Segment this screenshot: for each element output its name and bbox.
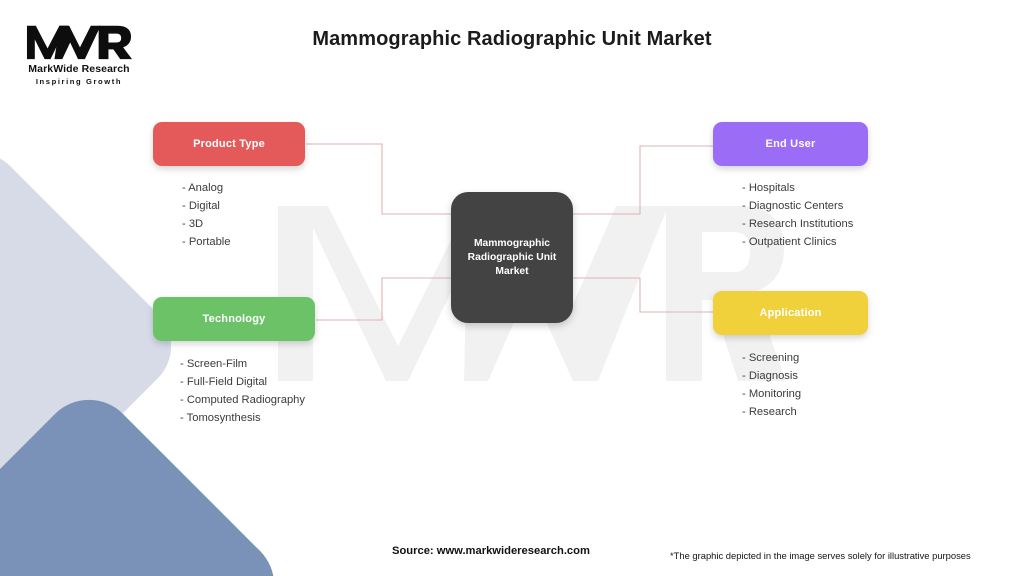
category-item-list-end-user: - Hospitals - Diagnostic Centers - Resea… <box>713 179 868 251</box>
list-item: - Outpatient Clinics <box>742 233 868 251</box>
list-item: - Hospitals <box>742 179 868 197</box>
category-application: Application - Screening - Diagnosis - Mo… <box>713 291 868 421</box>
list-item: - 3D <box>182 215 305 233</box>
list-item: - Diagnostic Centers <box>742 197 868 215</box>
center-node: Mammographic Radiographic Unit Market <box>451 192 573 323</box>
list-item: - Screening <box>742 349 868 367</box>
category-label: Product Type <box>193 138 265 150</box>
list-item: - Analog <box>182 179 305 197</box>
category-product-type: Product Type - Analog - Digital - 3D - P… <box>153 122 305 251</box>
category-label: Application <box>759 307 821 319</box>
infographic-canvas: MarkWide Research Inspiring Growth Mammo… <box>0 0 1024 576</box>
list-item: - Tomosynthesis <box>180 409 315 427</box>
list-item: - Diagnosis <box>742 367 868 385</box>
list-item: - Digital <box>182 197 305 215</box>
footer-disclaimer: *The graphic depicted in the image serve… <box>670 550 971 561</box>
list-item: - Portable <box>182 233 305 251</box>
category-label: Technology <box>203 313 266 325</box>
list-item: - Computed Radiography <box>180 391 315 409</box>
footer-source[interactable]: Source: www.markwideresearch.com <box>392 545 590 557</box>
category-technology: Technology - Screen-Film - Full-Field Di… <box>153 297 315 427</box>
list-item: - Monitoring <box>742 385 868 403</box>
category-item-list-application: - Screening - Diagnosis - Monitoring - R… <box>713 349 868 421</box>
list-item: - Research Institutions <box>742 215 868 233</box>
brand-tagline: Inspiring Growth <box>14 77 144 86</box>
list-item: - Research <box>742 403 868 421</box>
category-item-list-product-type: - Analog - Digital - 3D - Portable <box>153 179 305 251</box>
page-title: Mammographic Radiographic Unit Market <box>0 28 1024 51</box>
brand-name: MarkWide Research <box>14 63 144 75</box>
list-item: - Screen-Film <box>180 355 315 373</box>
category-header-technology[interactable]: Technology <box>153 297 315 341</box>
center-node-label: Mammographic Radiographic Unit Market <box>451 237 573 279</box>
category-header-application[interactable]: Application <box>713 291 868 335</box>
category-header-product-type[interactable]: Product Type <box>153 122 305 166</box>
category-label: End User <box>766 138 816 150</box>
category-item-list-technology: - Screen-Film - Full-Field Digital - Com… <box>153 355 315 427</box>
category-header-end-user[interactable]: End User <box>713 122 868 166</box>
list-item: - Full-Field Digital <box>180 373 315 391</box>
category-end-user: End User - Hospitals - Diagnostic Center… <box>713 122 868 251</box>
